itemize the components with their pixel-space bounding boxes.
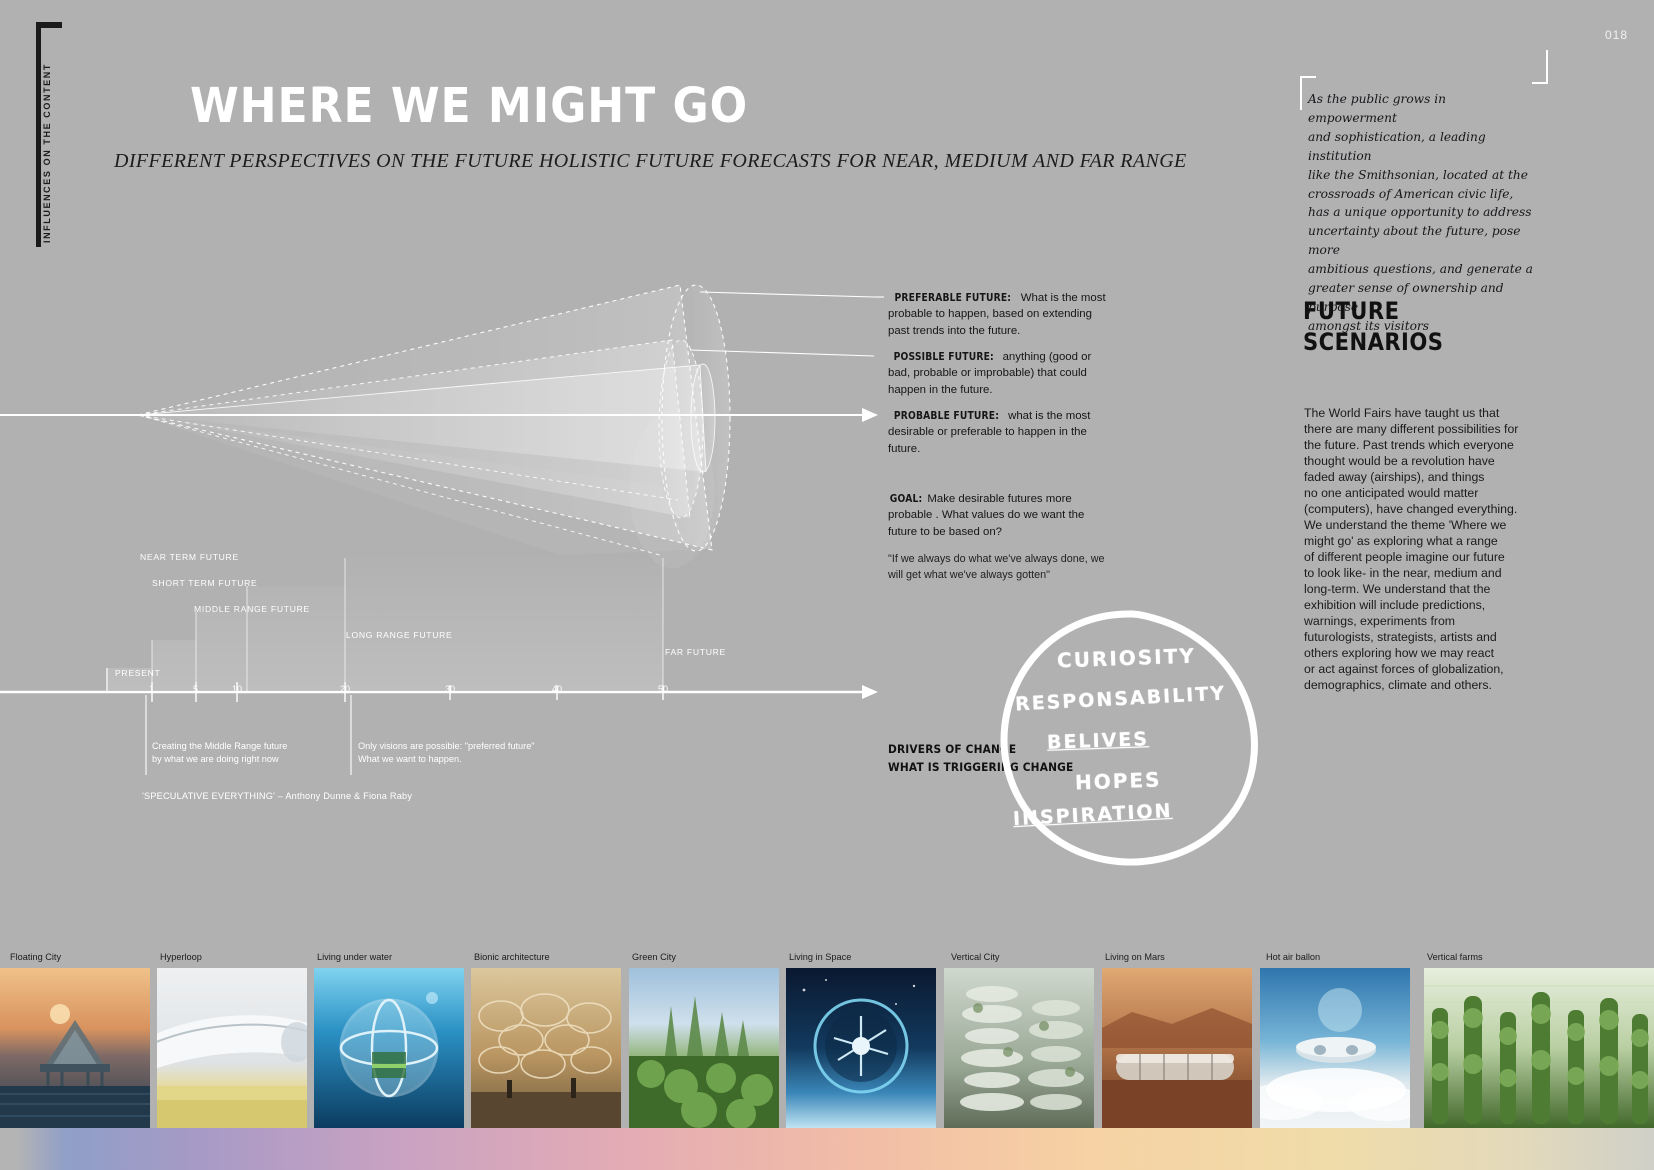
timeline-label-middle-range: MIDDLE RANGE FUTURE	[194, 604, 310, 614]
gallery-caption-hyperloop: Hyperloop	[160, 952, 202, 962]
gallery-caption-floating-city: Floating City	[10, 952, 61, 962]
future-scenarios-body: The World Fairs have taught us that ther…	[1304, 406, 1536, 694]
timeline-note-visions: Only visions are possible: "preferred fu…	[358, 740, 535, 766]
gallery-item-living-under-water[interactable]	[314, 968, 464, 1128]
gallery-item-vertical-farms[interactable]	[1424, 968, 1654, 1128]
gallery-caption-hot-air-ballon: Hot air ballon	[1266, 952, 1320, 962]
living-on-mars-image	[1102, 968, 1252, 1128]
hyperloop-image	[157, 968, 307, 1128]
gallery-item-hyperloop[interactable]	[157, 968, 307, 1128]
callout-preferable-label: PREFERABLE FUTURE:	[894, 292, 1011, 306]
driver-word-belives: BELIVES	[1047, 728, 1150, 754]
page-subtitle: DIFFERENT PERSPECTIVES ON THE FUTURE HOL…	[114, 148, 1187, 174]
timeline-tick-30: 30	[445, 684, 455, 694]
timeline-note-middle-range: Creating the Middle Range future by what…	[152, 740, 287, 766]
callout-goal: GOAL: Make desirable futures more probab…	[888, 491, 1108, 540]
timeline-label-present: PRESENT	[115, 668, 161, 678]
timeline-tick-40: 40	[552, 684, 562, 694]
gallery-caption-vertical-city: Vertical City	[951, 952, 1000, 962]
timeline-tick-50: 50	[658, 684, 668, 694]
timeline-tick-10: 10	[232, 684, 242, 694]
bracket-bottom-right-icon	[1532, 50, 1548, 84]
living-under-water-image	[314, 968, 464, 1128]
hot-air-ballon-image	[1260, 968, 1410, 1128]
gallery-item-living-on-mars[interactable]	[1102, 968, 1252, 1128]
timeline-label-long-range: LONG RANGE FUTURE	[346, 630, 452, 640]
gallery-item-living-in-space[interactable]	[786, 968, 936, 1128]
drivers-circle: CURIOSITY RESPONSABILITY BELIVES HOPES I…	[995, 608, 1265, 870]
image-gallery: Floating City Hyperloop	[0, 928, 1654, 1128]
inline-quote: "If we always do what we've always done,…	[888, 552, 1110, 583]
gallery-caption-bionic-architecture: Bionic architecture	[474, 952, 550, 962]
callout-possible-future: POSSIBLE FUTURE: anything (good or bad, …	[888, 349, 1108, 398]
timeline-label-short-term: SHORT TERM FUTURE	[152, 578, 257, 588]
gallery-caption-green-city: Green City	[632, 952, 676, 962]
timeline-tick-1: 1	[149, 684, 154, 694]
spine-label: INFLUENCES ON THE CONTENT	[42, 43, 52, 263]
page-title: WHERE WE MIGHT GO	[190, 82, 748, 130]
future-scenarios-title: FUTURE SCENARIOS	[1303, 296, 1443, 357]
living-in-space-image	[786, 968, 936, 1128]
spine-rule-vertical	[36, 22, 41, 247]
vertical-city-image	[944, 968, 1094, 1128]
gallery-caption-living-under-water: Living under water	[317, 952, 392, 962]
driver-word-curiosity: CURIOSITY	[1057, 644, 1196, 673]
callout-probable-label: PROBABLE FUTURE:	[894, 410, 999, 424]
gallery-item-hot-air-ballon[interactable]	[1260, 968, 1410, 1128]
driver-word-hopes: HOPES	[1075, 767, 1162, 794]
timeline-label-far-future: FAR FUTURE	[665, 647, 726, 657]
callout-goal-label: GOAL:	[890, 493, 923, 507]
gallery-item-green-city[interactable]	[629, 968, 779, 1128]
green-city-image	[629, 968, 779, 1128]
gallery-item-bionic-architecture[interactable]	[471, 968, 621, 1128]
callout-preferable-future: PREFERABLE FUTURE: What is the most prob…	[888, 290, 1108, 339]
vertical-farms-image	[1424, 968, 1654, 1128]
bionic-architecture-image	[471, 968, 621, 1128]
timeline-tick-5: 5	[193, 684, 198, 694]
gallery-item-vertical-city[interactable]	[944, 968, 1094, 1128]
callout-probable-future: PROBABLE FUTURE: what is the most desira…	[888, 408, 1108, 457]
timeline-label-near-term: NEAR TERM FUTURE	[140, 552, 239, 562]
gallery-caption-living-in-space: Living in Space	[789, 952, 851, 962]
gallery-caption-vertical-farms: Vertical farms	[1427, 952, 1483, 962]
callout-possible-label: POSSIBLE FUTURE:	[894, 351, 994, 365]
gallery-caption-living-on-mars: Living on Mars	[1105, 952, 1165, 962]
floating-city-image	[0, 968, 150, 1128]
timeline-tick-20: 20	[340, 684, 350, 694]
page-canvas: INFLUENCES ON THE CONTENT 018 WHERE WE M…	[0, 0, 1654, 1170]
gallery-item-floating-city[interactable]	[0, 968, 150, 1128]
page-number: 018	[1605, 28, 1628, 42]
timeline-credit: 'SPECULATIVE EVERYTHING' – Anthony Dunne…	[142, 791, 412, 801]
bottom-gradient-strip	[0, 1128, 1654, 1170]
